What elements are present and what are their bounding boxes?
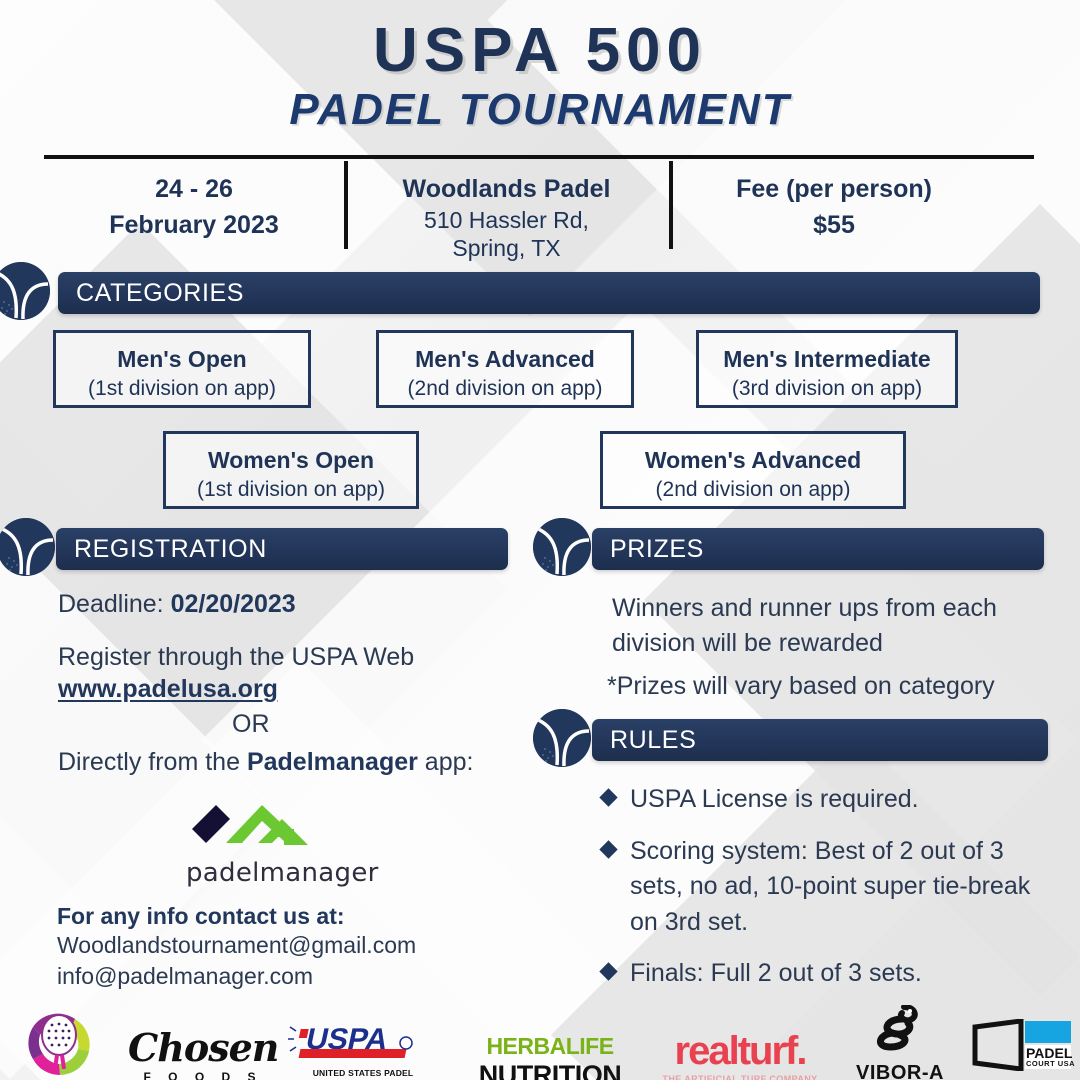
category-title: Men's Open: [56, 345, 308, 375]
section-header-categories-label: CATEGORIES: [76, 279, 244, 308]
sponsor-name: HERBALIFE: [470, 1033, 630, 1060]
registration-app-suffix: app:: [418, 748, 474, 776]
sponsor-logo-woodlands-padel: [10, 1007, 110, 1080]
contact-email-2[interactable]: info@padelmanager.com: [57, 961, 416, 992]
sponsor-tagline: UNITED STATES PADEL ASSOCIATION: [288, 1068, 438, 1080]
section-header-rules-label: RULES: [610, 726, 696, 755]
poster-root: USPA 500 PADEL TOURNAMENT 24 - 26 Februa…: [0, 0, 1080, 1080]
sponsor-logo-chosen-foods: Chosen F O O D S: [128, 1025, 278, 1080]
sponsor-tagline: COURT USA: [1026, 1059, 1075, 1068]
sponsor-tagline: F O O D S: [128, 1070, 278, 1080]
padel-ball-icon: [533, 518, 591, 576]
section-header-registration-label: REGISTRATION: [74, 535, 267, 564]
sponsor-logo-herbalife-nutrition: HERBALIFE NUTRITION: [470, 1033, 630, 1080]
registration-or: OR: [232, 710, 270, 739]
padelmanager-logo-icon: [186, 795, 326, 860]
rule-text: Scoring system: Best of 2 out of 3 sets,…: [630, 834, 1050, 941]
info-venue-street: 510 Hassler Rd,: [344, 207, 669, 235]
prizes-note: *Prizes will vary based on category: [607, 668, 995, 704]
sponsor-logo-padel-court-usa: PADEL COURT USA: [968, 1019, 1078, 1076]
info-venue-city: Spring, TX: [344, 235, 669, 263]
sponsor-strip: Chosen F O O D S USPA UNITED STATES PADE…: [0, 1005, 1080, 1080]
poster-title-block: USPA 500 PADEL TOURNAMENT: [0, 18, 1080, 135]
section-header-registration: REGISTRATION: [56, 528, 508, 570]
sponsor-name: VIBOR-A: [845, 1062, 955, 1080]
category-card-mens-advanced[interactable]: Men's Advanced (2nd division on app): [376, 330, 634, 408]
info-fee-label: Fee (per person): [669, 171, 999, 207]
rule-text: Finals: Full 2 out of 3 sets.: [630, 956, 1050, 992]
registration-app-line: Directly from the Padelmanager app:: [58, 745, 473, 780]
sponsor-tagline: NUTRITION: [470, 1060, 630, 1080]
prizes-text-line2: division will be rewarded: [612, 625, 883, 661]
registration-app-prefix: Directly from the: [58, 748, 247, 776]
category-card-mens-open[interactable]: Men's Open (1st division on app): [53, 330, 311, 408]
diamond-bullet-icon: [599, 840, 617, 858]
section-header-rules: RULES: [592, 719, 1048, 761]
rule-item: Finals: Full 2 out of 3 sets.: [600, 956, 1050, 992]
padel-ball-icon: [533, 709, 591, 767]
sponsor-name: realturf.: [650, 1029, 830, 1074]
event-info-bar: 24 - 26 February 2023 Woodlands Padel 51…: [44, 155, 1034, 255]
registration-deadline-label: Deadline:: [58, 590, 171, 618]
info-dates-line2: February 2023: [44, 207, 344, 243]
category-subtitle: (2nd division on app): [603, 476, 903, 504]
category-title: Women's Open: [166, 446, 416, 476]
diamond-bullet-icon: [599, 788, 617, 806]
prizes-text-line1: Winners and runner ups from each: [612, 590, 997, 626]
category-title: Men's Intermediate: [699, 345, 955, 375]
category-card-womens-advanced[interactable]: Women's Advanced (2nd division on app): [600, 431, 906, 509]
contact-heading: For any info contact us at:: [57, 903, 416, 930]
rule-item: Scoring system: Best of 2 out of 3 sets,…: [600, 834, 1050, 941]
page-title: USPA 500: [0, 18, 1080, 83]
category-subtitle: (1st division on app): [166, 476, 416, 504]
contact-email-1[interactable]: Woodlandstournament@gmail.com: [57, 930, 416, 961]
sponsor-name: Chosen: [128, 1025, 278, 1070]
sponsor-logo-realturf: realturf. THE ARTIFICIAL TURF COMPANY: [650, 1029, 830, 1080]
info-dates-line1: 24 - 26: [44, 171, 344, 207]
registration-deadline: Deadline: 02/20/2023: [58, 590, 296, 619]
registration-deadline-value: 02/20/2023: [171, 590, 296, 618]
section-header-categories: CATEGORIES: [58, 272, 1040, 314]
rule-item: USPA License is required.: [600, 782, 1050, 818]
category-card-womens-open[interactable]: Women's Open (1st division on app): [163, 431, 419, 509]
registration-web-line: Register through the USPA Web: [58, 640, 414, 675]
registration-link[interactable]: www.padelusa.org: [58, 675, 278, 704]
info-venue: Woodlands Padel 510 Hassler Rd, Spring, …: [344, 159, 669, 255]
sponsor-tagline: THE ARTIFICIAL TURF COMPANY: [650, 1074, 830, 1080]
sponsor-logo-uspa: USPA UNITED STATES PADEL ASSOCIATION: [288, 1023, 438, 1080]
section-header-prizes-label: PRIZES: [610, 535, 704, 564]
padelmanager-logo-text: padelmanager: [186, 858, 379, 888]
registration-app-name: Padelmanager: [247, 748, 418, 776]
diamond-bullet-icon: [599, 962, 617, 980]
info-dates: 24 - 26 February 2023: [44, 159, 344, 255]
category-subtitle: (3rd division on app): [699, 375, 955, 403]
category-title: Women's Advanced: [603, 446, 903, 476]
rule-text: USPA License is required.: [630, 782, 1050, 818]
category-subtitle: (2nd division on app): [379, 375, 631, 403]
section-header-prizes: PRIZES: [592, 528, 1044, 570]
sponsor-logo-vibor-a: VIBOR-A: [845, 1005, 955, 1080]
category-subtitle: (1st division on app): [56, 375, 308, 403]
contact-block: For any info contact us at: Woodlandstou…: [57, 903, 416, 992]
info-fee-value: $55: [669, 207, 999, 243]
rules-list: USPA License is required. Scoring system…: [600, 782, 1050, 1008]
info-venue-name: Woodlands Padel: [344, 171, 669, 207]
page-subtitle: PADEL TOURNAMENT: [0, 85, 1080, 135]
info-fee: Fee (per person) $55: [669, 159, 999, 255]
category-title: Men's Advanced: [379, 345, 631, 375]
category-card-mens-intermediate[interactable]: Men's Intermediate (3rd division on app): [696, 330, 958, 408]
